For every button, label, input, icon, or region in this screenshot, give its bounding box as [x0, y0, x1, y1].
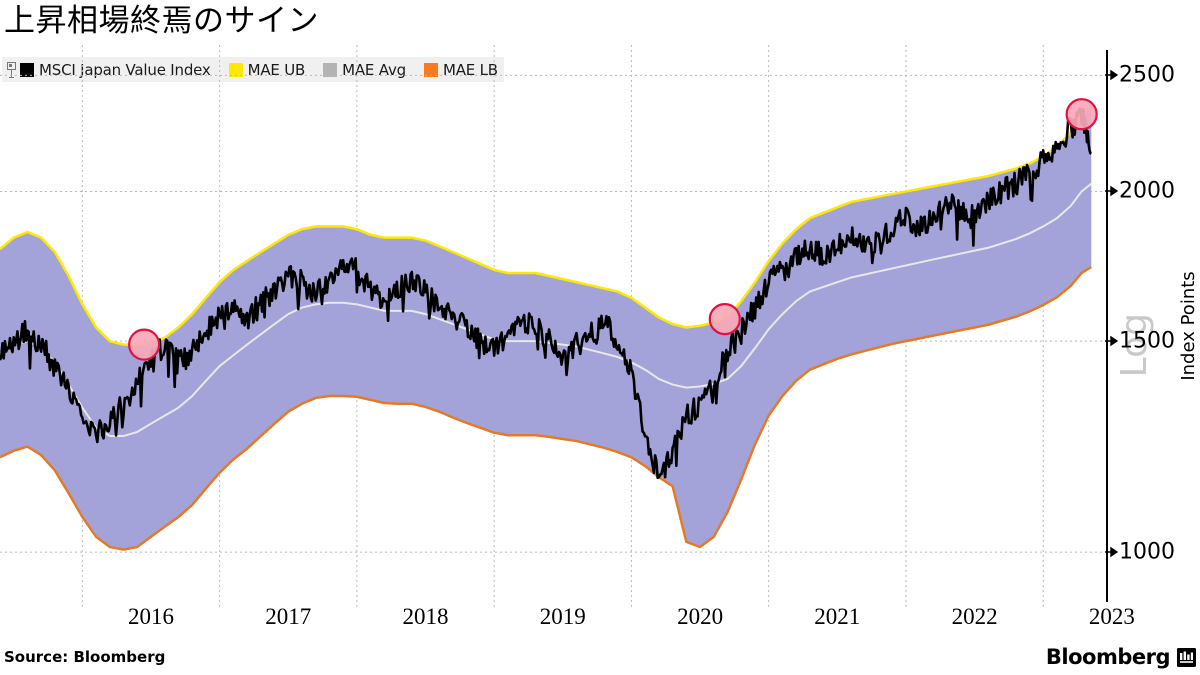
- page-title: 上昇相場終焉のサイン: [4, 0, 319, 44]
- x-axis-tick-label: 2021: [814, 604, 860, 630]
- mae-band-fill: [0, 108, 1091, 550]
- x-axis-tick-label: 2022: [952, 604, 998, 630]
- brand-text: Bloomberg: [1046, 645, 1170, 669]
- bloomberg-brand: Bloomberg: [1046, 645, 1196, 669]
- bar-chart-icon: [1177, 648, 1196, 667]
- y-axis-tick-label: 1500: [1119, 329, 1175, 354]
- y-axis-tick-label: 1000: [1119, 540, 1175, 565]
- x-axis-tick-label: 2020: [677, 604, 723, 630]
- x-axis-tick-label: 2019: [540, 604, 586, 630]
- y-axis-tick-label: 2500: [1119, 63, 1175, 88]
- y-axis-tick-arrow: [1105, 70, 1118, 81]
- y-axis: Log Index Points 1000150020002500: [1105, 45, 1200, 607]
- source-note: Source: Bloomberg: [4, 648, 165, 666]
- signal-marker[interactable]: [1067, 99, 1097, 129]
- signal-marker[interactable]: [129, 330, 159, 360]
- signal-marker[interactable]: [710, 304, 740, 334]
- chart-root: 上昇相場終焉のサイン MSCI Japan Value Index MAE UB…: [0, 0, 1200, 675]
- x-axis-tick-label: 2018: [403, 604, 449, 630]
- x-axis-tick-label: 2016: [128, 604, 174, 630]
- mae-band-area: [0, 108, 1091, 550]
- y-axis-tick-arrow: [1105, 547, 1118, 558]
- x-axis-tick-label: 2023: [1089, 604, 1135, 630]
- x-axis-tick-label: 2017: [265, 604, 311, 630]
- y-axis-tick-label: 2000: [1119, 179, 1175, 204]
- y-axis-tick-arrow: [1105, 186, 1118, 197]
- chart-svg: [0, 45, 1105, 607]
- y-axis-line: [1106, 50, 1108, 602]
- y-axis-title: Index Points: [1178, 271, 1199, 380]
- chart-plot-area: [0, 45, 1105, 607]
- y-axis-tick-arrow: [1105, 336, 1118, 347]
